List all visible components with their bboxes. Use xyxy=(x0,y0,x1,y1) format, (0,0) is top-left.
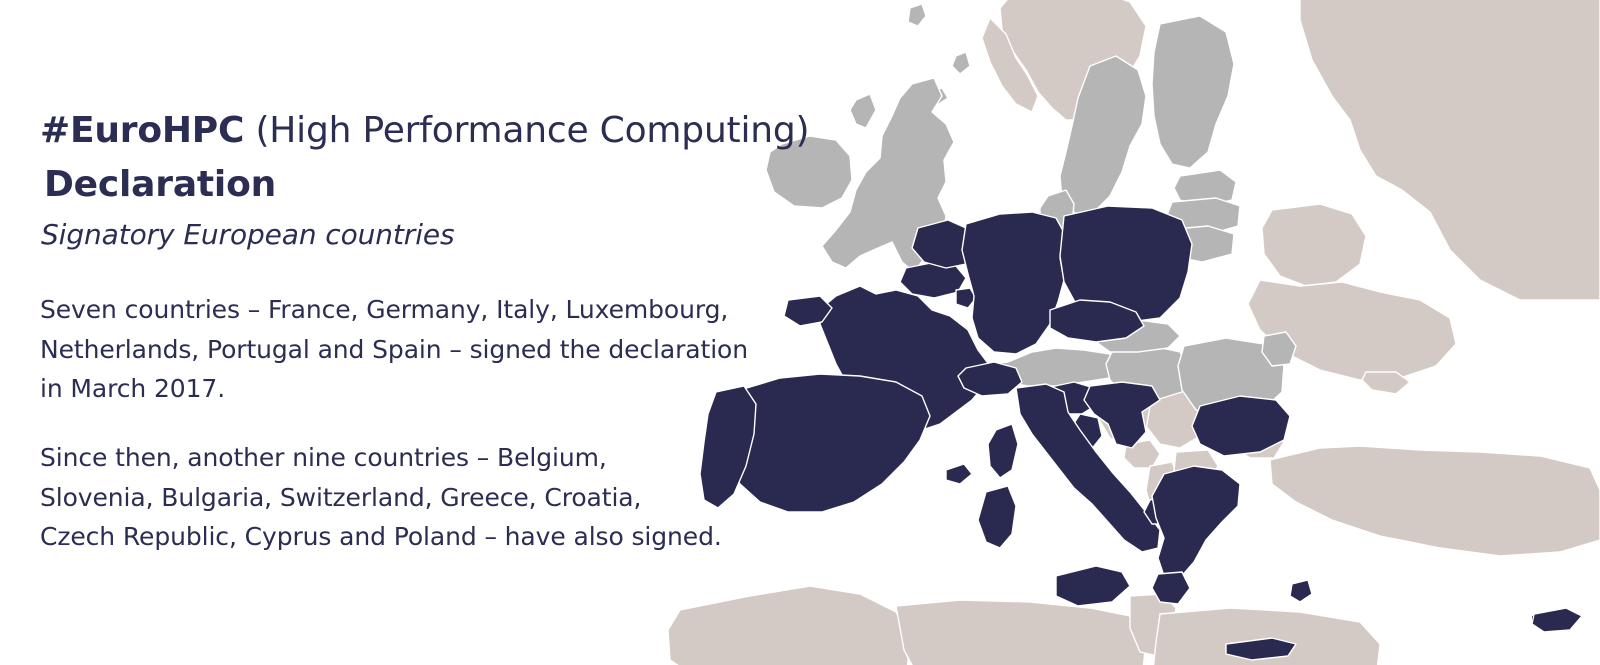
page-title-hashtag: #EuroHPC xyxy=(40,110,244,151)
paragraph-line: Since then, another nine countries – Bel… xyxy=(40,438,800,478)
paragraph-line: Czech Republic, Cyprus and Poland – have… xyxy=(40,517,800,557)
paragraph-first-signatories: Seven countries – France, Germany, Italy… xyxy=(40,290,800,409)
page-title: #EuroHPC (High Performance Computing) xyxy=(40,104,840,158)
paragraph-line: Netherlands, Portugal and Spain – signed… xyxy=(40,330,800,370)
paragraph-line: Slovenia, Bulgaria, Switzerland, Greece,… xyxy=(40,478,800,518)
paragraph-line: Seven countries – France, Germany, Italy… xyxy=(40,290,800,330)
banner-text-block: #EuroHPC (High Performance Computing) De… xyxy=(0,0,820,665)
page-title-line2: Declaration xyxy=(44,158,276,212)
eurohpc-declaration-banner: #EuroHPC (High Performance Computing) De… xyxy=(0,0,1600,665)
page-subtitle: Signatory European countries xyxy=(41,216,455,254)
paragraph-later-signatories: Since then, another nine countries – Bel… xyxy=(40,438,800,557)
page-title-expansion: (High Performance Computing) xyxy=(244,110,809,151)
paragraph-line: in March 2017. xyxy=(40,369,800,409)
